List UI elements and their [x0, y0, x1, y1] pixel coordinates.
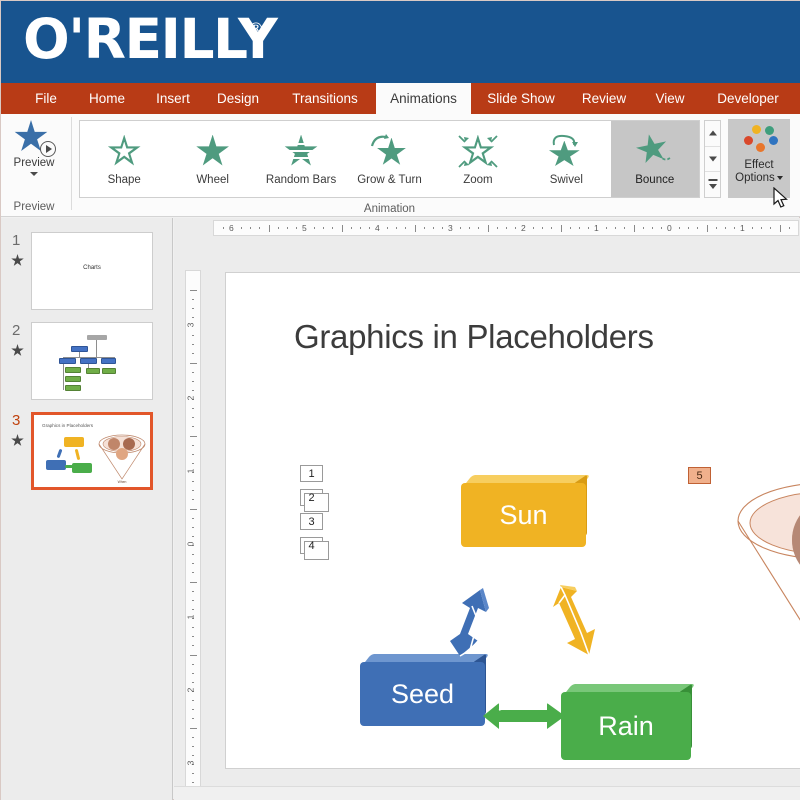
ribbon-tab-file[interactable]: File [23, 83, 69, 114]
ruler-tick [192, 454, 194, 455]
ruler-tick [515, 227, 516, 229]
ruler-tick [190, 728, 197, 729]
star-bars-icon [279, 133, 323, 173]
animation-effect-label: Wheel [196, 174, 229, 186]
ruler-tick [192, 308, 194, 309]
chevron-down-icon[interactable] [30, 172, 38, 176]
slide-thumbnail-pane[interactable]: 1 Charts 2 [1, 218, 173, 800]
animation-effect-label: Grow & Turn [357, 174, 422, 186]
ruler-tick [588, 227, 589, 229]
horizontal-ruler[interactable]: 65432101 [213, 220, 799, 236]
shape-rain-label: Rain [561, 692, 691, 760]
ruler-tick [579, 227, 580, 229]
ruler-tick-label: 0 [667, 223, 672, 233]
ruler-tick [679, 227, 680, 229]
ruler-tick [287, 227, 288, 229]
ruler-tick [460, 227, 461, 229]
animation-effect-random-bars[interactable]: Random Bars [257, 121, 345, 197]
animation-star-icon[interactable] [11, 254, 24, 267]
ruler-tick [192, 353, 194, 354]
ruler-tick-label: 2 [521, 223, 526, 233]
ruler-tick [192, 682, 194, 683]
ruler-tick [250, 227, 251, 229]
ruler-tick [332, 227, 333, 229]
ribbon-tabbar: FileHomeInsertDesignTransitionsAnimation… [1, 83, 800, 114]
preview-group: Preview Preview [1, 114, 67, 214]
ruler-tick [192, 417, 194, 418]
ruler-tick [624, 227, 625, 229]
mouse-pointer-icon [773, 187, 791, 211]
ruler-tick [192, 518, 194, 519]
group-divider [71, 117, 72, 210]
scroll-up-icon [709, 131, 717, 136]
ruler-tick [192, 700, 194, 701]
shape-seed-label: Seed [360, 662, 485, 726]
ruler-tick [606, 227, 607, 229]
slide-number: 1 [12, 232, 20, 249]
effect-dot [765, 126, 774, 135]
ruler-tick [192, 572, 194, 573]
ruler-tick [192, 463, 194, 464]
ruler-tick [192, 335, 194, 336]
arrow-sun-to-rain[interactable] [551, 585, 609, 665]
ribbon-tab-view[interactable]: View [645, 83, 695, 114]
ruler-tick [469, 227, 470, 229]
ruler-tick [192, 554, 194, 555]
ruler-tick [789, 227, 790, 229]
horizontal-scrollbar[interactable] [174, 786, 800, 800]
ruler-tick [192, 645, 194, 646]
animation-tag[interactable]: 2 [300, 489, 323, 506]
ruler-tick [643, 227, 644, 229]
ruler-tick-label: 3 [185, 323, 195, 328]
effect-options-label-line2: Options [735, 172, 783, 185]
ribbon-tab-transitions[interactable]: Transitions [279, 83, 371, 114]
ruler-tick [192, 737, 194, 738]
star-grow-icon [367, 133, 411, 173]
ruler-tick [798, 227, 799, 229]
oreilly-logo: O'REILLY [23, 8, 276, 70]
ribbon-tab-animations[interactable]: Animations [376, 83, 471, 114]
slide-number: 3 [12, 412, 20, 429]
animation-tag-selected[interactable]: 5 [688, 467, 711, 484]
ruler-tick [734, 227, 735, 229]
ribbon-tab-insert[interactable]: Insert [147, 83, 199, 114]
animation-effect-swivel[interactable]: Swivel [522, 121, 610, 197]
ruler-tick [241, 227, 242, 229]
ruler-tick [478, 227, 479, 229]
ruler-tick [688, 227, 689, 229]
slide-canvas[interactable]: Graphics in Placeholders 1 2 3 4 5 Sun S… [225, 272, 800, 769]
ruler-tick [190, 436, 197, 437]
ruler-tick [192, 536, 194, 537]
ruler-tick [278, 227, 279, 229]
ruler-tick-label: 1 [185, 615, 195, 620]
ruler-tick [634, 225, 635, 232]
ruler-tick-label: 5 [302, 223, 307, 233]
preview-button-label: Preview [14, 157, 55, 169]
ruler-tick [405, 227, 406, 229]
slide-thumbnail-preview[interactable]: Graphics in Placeholders When [31, 412, 153, 490]
ruler-tick [652, 227, 653, 229]
vertical-ruler[interactable]: 3210123 [185, 270, 201, 796]
shape-sun-label: Sun [461, 483, 586, 547]
animation-star-icon[interactable] [11, 344, 24, 357]
ruler-tick [387, 227, 388, 229]
ruler-tick [323, 227, 324, 229]
ruler-tick-label: 3 [185, 761, 195, 766]
ribbon-tab-developer[interactable]: Developer [703, 83, 793, 114]
ruler-tick [433, 227, 434, 229]
thumbnail-title-text: Graphics in Placeholders [42, 423, 93, 428]
ruler-tick [192, 299, 194, 300]
animation-effect-zoom[interactable]: Zoom [434, 121, 522, 197]
ruler-tick [192, 591, 194, 592]
animation-effect-bounce[interactable]: Bounce [611, 121, 699, 197]
ruler-tick [192, 490, 194, 491]
ruler-tick [192, 755, 194, 756]
gallery-scroll-buttons [704, 120, 721, 198]
star-wheel-icon [191, 133, 235, 173]
ruler-tick [661, 227, 662, 229]
effect-options-label-line1: Effect [744, 159, 773, 172]
animation-gallery[interactable]: ShapeWheelRandom BarsGrow & TurnZoomSwiv… [79, 120, 700, 198]
ruler-tick [192, 673, 194, 674]
animation-tag[interactable]: 1 [300, 465, 323, 482]
powerpoint-window: O'REILLY ® FileHomeInsertDesignTransitio… [0, 0, 800, 800]
ruler-tick-label: 1 [185, 469, 195, 474]
ruler-tick [192, 445, 194, 446]
ruler-tick [570, 227, 571, 229]
ruler-tick [190, 655, 197, 656]
ruler-tick [192, 773, 194, 774]
ribbon-tab-home[interactable]: Home [79, 83, 135, 114]
ruler-tick [752, 227, 753, 229]
slide-thumbnail-preview[interactable]: Charts [31, 232, 153, 310]
ruler-tick [192, 709, 194, 710]
ruler-tick [506, 227, 507, 229]
ruler-tick-label: 2 [185, 396, 195, 401]
animation-effect-shape[interactable]: Shape [80, 121, 168, 197]
ruler-tick [780, 225, 781, 232]
ruler-tick [192, 317, 194, 318]
ruler-tick-label: 0 [185, 542, 195, 547]
ruler-tick [190, 582, 197, 583]
ruler-tick [497, 227, 498, 229]
effect-dot [756, 143, 765, 152]
ruler-tick-label: 4 [375, 223, 380, 233]
ruler-tick [192, 390, 194, 391]
ruler-tick [770, 227, 771, 229]
ruler-tick-label: 1 [594, 223, 599, 233]
arrow-seed-to-sun[interactable] [448, 586, 506, 658]
ruler-tick [192, 408, 194, 409]
animation-tag[interactable]: 4 [300, 537, 323, 554]
ruler-tick [697, 227, 698, 229]
slide-thumbnail-preview[interactable] [31, 322, 153, 400]
ruler-tick [190, 363, 197, 364]
slide-title[interactable]: Graphics in Placeholders [294, 318, 654, 356]
more-options-icon [708, 179, 717, 181]
ruler-tick [192, 372, 194, 373]
effect-dot [752, 125, 761, 134]
ruler-tick [761, 227, 762, 229]
ruler-tick [192, 600, 194, 601]
effect-dot [744, 136, 753, 145]
ruler-tick [716, 227, 717, 229]
ruler-tick [190, 290, 197, 291]
ruler-tick [551, 227, 552, 229]
slide-editing-area: 65432101 3210123 Graphics in Placeholder… [174, 218, 800, 800]
ruler-tick [223, 227, 224, 229]
animation-tag[interactable]: 3 [300, 513, 323, 530]
star-swivel-icon [544, 133, 588, 173]
scroll-up-button[interactable] [705, 121, 720, 147]
more-options-button[interactable] [705, 172, 720, 197]
preview-button[interactable]: Preview [5, 118, 63, 186]
ruler-tick-label: 1 [740, 223, 745, 233]
ruler-tick [533, 227, 534, 229]
shape-seed[interactable]: Seed [360, 654, 485, 726]
ruler-tick [192, 527, 194, 528]
animation-effect-label: Random Bars [266, 174, 336, 186]
animation-effect-label: Bounce [635, 174, 674, 186]
scroll-down-button[interactable] [705, 147, 720, 173]
ruler-tick [369, 227, 370, 229]
animation-group-label: Animation [79, 203, 700, 215]
scroll-down-icon [709, 157, 717, 162]
shape-sun[interactable]: Sun [461, 475, 586, 547]
ruler-tick [415, 225, 416, 232]
registered-mark-icon: ® [248, 19, 264, 38]
ruler-tick [342, 225, 343, 232]
ruler-tick [190, 509, 197, 510]
ruler-tick [259, 227, 260, 229]
star-zoom-icon [456, 133, 500, 173]
ruler-tick-label: 6 [229, 223, 234, 233]
ribbon-tab-slide-show[interactable]: Slide Show [477, 83, 565, 114]
ruler-tick [192, 344, 194, 345]
ruler-tick [424, 227, 425, 229]
star-bounce-icon [633, 133, 677, 173]
arrow-seed-to-rain[interactable] [481, 697, 567, 735]
oreilly-banner: O'REILLY ® [1, 1, 800, 83]
ruler-tick [192, 627, 194, 628]
preview-star-play-icon [14, 120, 54, 156]
ribbon-body: Preview Preview ShapeWheelRandom BarsGro… [1, 114, 800, 217]
ruler-tick [296, 227, 297, 229]
ruler-tick [192, 782, 194, 783]
animation-star-icon[interactable] [11, 434, 24, 447]
ruler-tick [192, 481, 194, 482]
ruler-tick [396, 227, 397, 229]
ruler-tick [725, 227, 726, 229]
ruler-tick-label: 3 [448, 223, 453, 233]
svg-text:When: When [118, 480, 127, 484]
animation-effect-label: Zoom [463, 174, 492, 186]
animation-effect-wheel[interactable]: Wheel [168, 121, 256, 197]
slide-number: 2 [12, 322, 20, 339]
effect-dot [769, 136, 778, 145]
ruler-tick [192, 718, 194, 719]
ruler-tick [192, 381, 194, 382]
preview-group-label: Preview [1, 201, 67, 213]
ruler-tick [269, 225, 270, 232]
ruler-tick-label: 2 [185, 688, 195, 693]
ruler-tick [707, 225, 708, 232]
ribbon-tab-design[interactable]: Design [209, 83, 267, 114]
ruler-tick [192, 664, 194, 665]
ruler-tick [615, 227, 616, 229]
ribbon-tab-review[interactable]: Review [573, 83, 635, 114]
ruler-tick [192, 746, 194, 747]
animation-effect-grow-turn[interactable]: Grow & Turn [345, 121, 433, 197]
funnel-smartart[interactable]: R [734, 465, 800, 665]
ruler-tick [442, 227, 443, 229]
ruler-tick [192, 499, 194, 500]
thumbnail-title-text: Charts [32, 265, 152, 271]
ruler-tick [192, 426, 194, 427]
ruler-tick [192, 609, 194, 610]
ruler-tick [351, 227, 352, 229]
animation-effect-label: Swivel [550, 174, 583, 186]
chevron-down-icon [777, 176, 783, 180]
ruler-tick [561, 225, 562, 232]
ruler-tick [192, 563, 194, 564]
shape-rain[interactable]: Rain [561, 684, 691, 760]
star-hollow-icon [102, 133, 146, 173]
ruler-tick [314, 227, 315, 229]
effect-options-dots-icon [739, 123, 779, 159]
ruler-tick [542, 227, 543, 229]
animation-effect-label: Shape [108, 174, 141, 186]
ruler-tick [192, 636, 194, 637]
ruler-tick [488, 225, 489, 232]
ruler-tick [360, 227, 361, 229]
